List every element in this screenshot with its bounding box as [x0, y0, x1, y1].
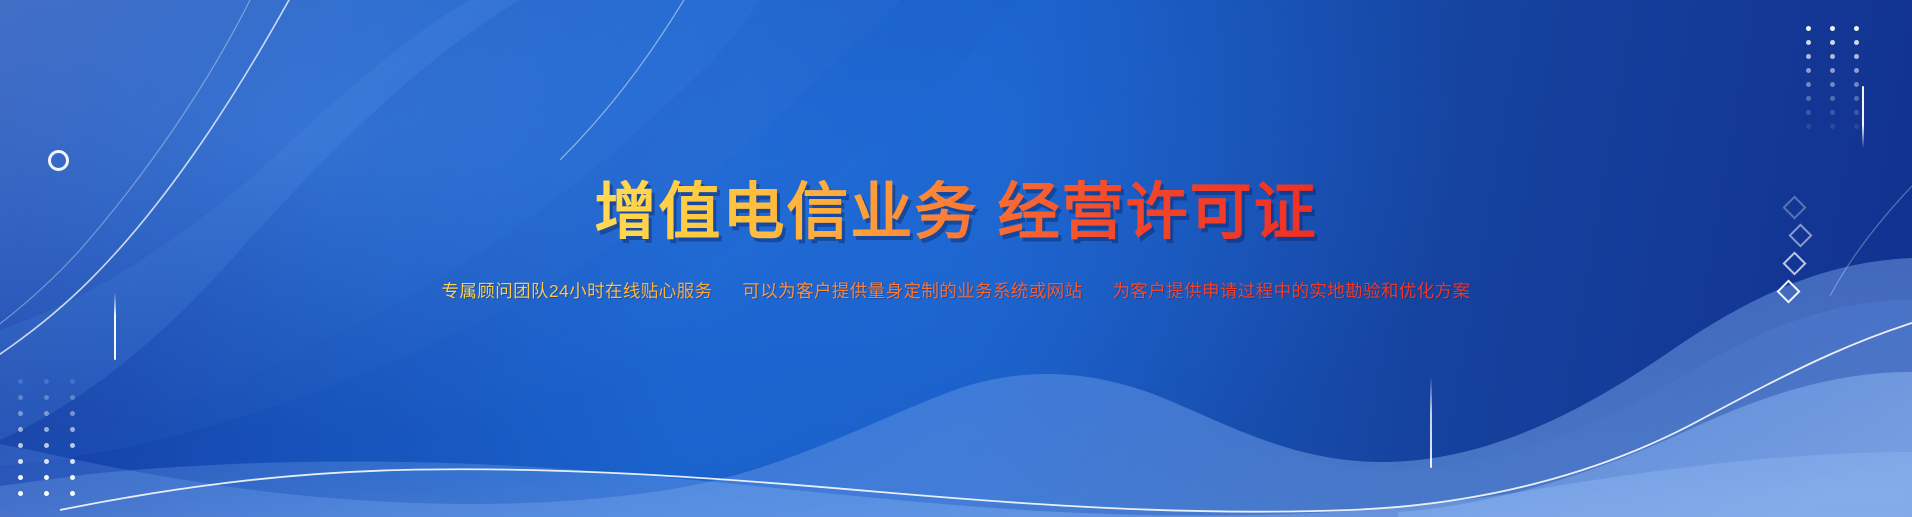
- promo-banner: 增值电信业务 经营许可证 专属顾问团队24小时在线贴心服务 可以为客户提供量身定…: [0, 0, 1912, 517]
- subtitle-item-2: 可以为客户提供量身定制的业务系统或网站: [742, 278, 1082, 303]
- banner-subtitle: 专属顾问团队24小时在线贴心服务 可以为客户提供量身定制的业务系统或网站 为客户…: [442, 278, 1471, 303]
- banner-content: 增值电信业务 经营许可证 专属顾问团队24小时在线贴心服务 可以为客户提供量身定…: [0, 0, 1912, 517]
- banner-title: 增值电信业务 经营许可证: [594, 180, 1317, 246]
- subtitle-item-1: 专属顾问团队24小时在线贴心服务: [442, 278, 713, 303]
- subtitle-item-3: 为客户提供申请过程中的实地勘验和优化方案: [1112, 278, 1470, 303]
